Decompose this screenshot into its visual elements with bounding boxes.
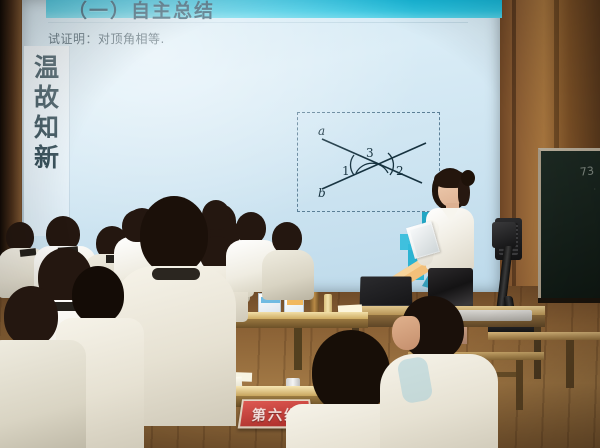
student-foreground-right [386, 296, 492, 448]
classroom-scene: （一）自主总结 试证明：对顶角相等. 温 故 知 新 a b 1 3 2 [0, 0, 600, 448]
student-head [312, 330, 390, 414]
student-head [4, 286, 58, 346]
blackboard: 73 · [538, 148, 600, 300]
blackboard-chalk-rail [538, 298, 600, 303]
teacher-hair-bun [461, 170, 475, 186]
student-face [392, 316, 420, 350]
chalk-writing: 73 [579, 164, 594, 178]
right-table-leg-right [516, 360, 523, 410]
document-camera-head [492, 222, 516, 248]
student-uniform [262, 250, 314, 300]
student-collar [152, 268, 200, 280]
bottle-2 [324, 294, 332, 313]
right-table-back-leg [566, 340, 574, 388]
middle-desk-apron [236, 319, 368, 328]
chalk-faint-mark: · [593, 185, 596, 194]
student-foreground-bottom-left [0, 286, 80, 448]
student-right-cluster-2 [264, 222, 312, 290]
student-uniform [0, 340, 86, 448]
middle-desk-top [236, 312, 368, 319]
student-head [140, 196, 208, 274]
right-table-back-top [488, 332, 600, 340]
